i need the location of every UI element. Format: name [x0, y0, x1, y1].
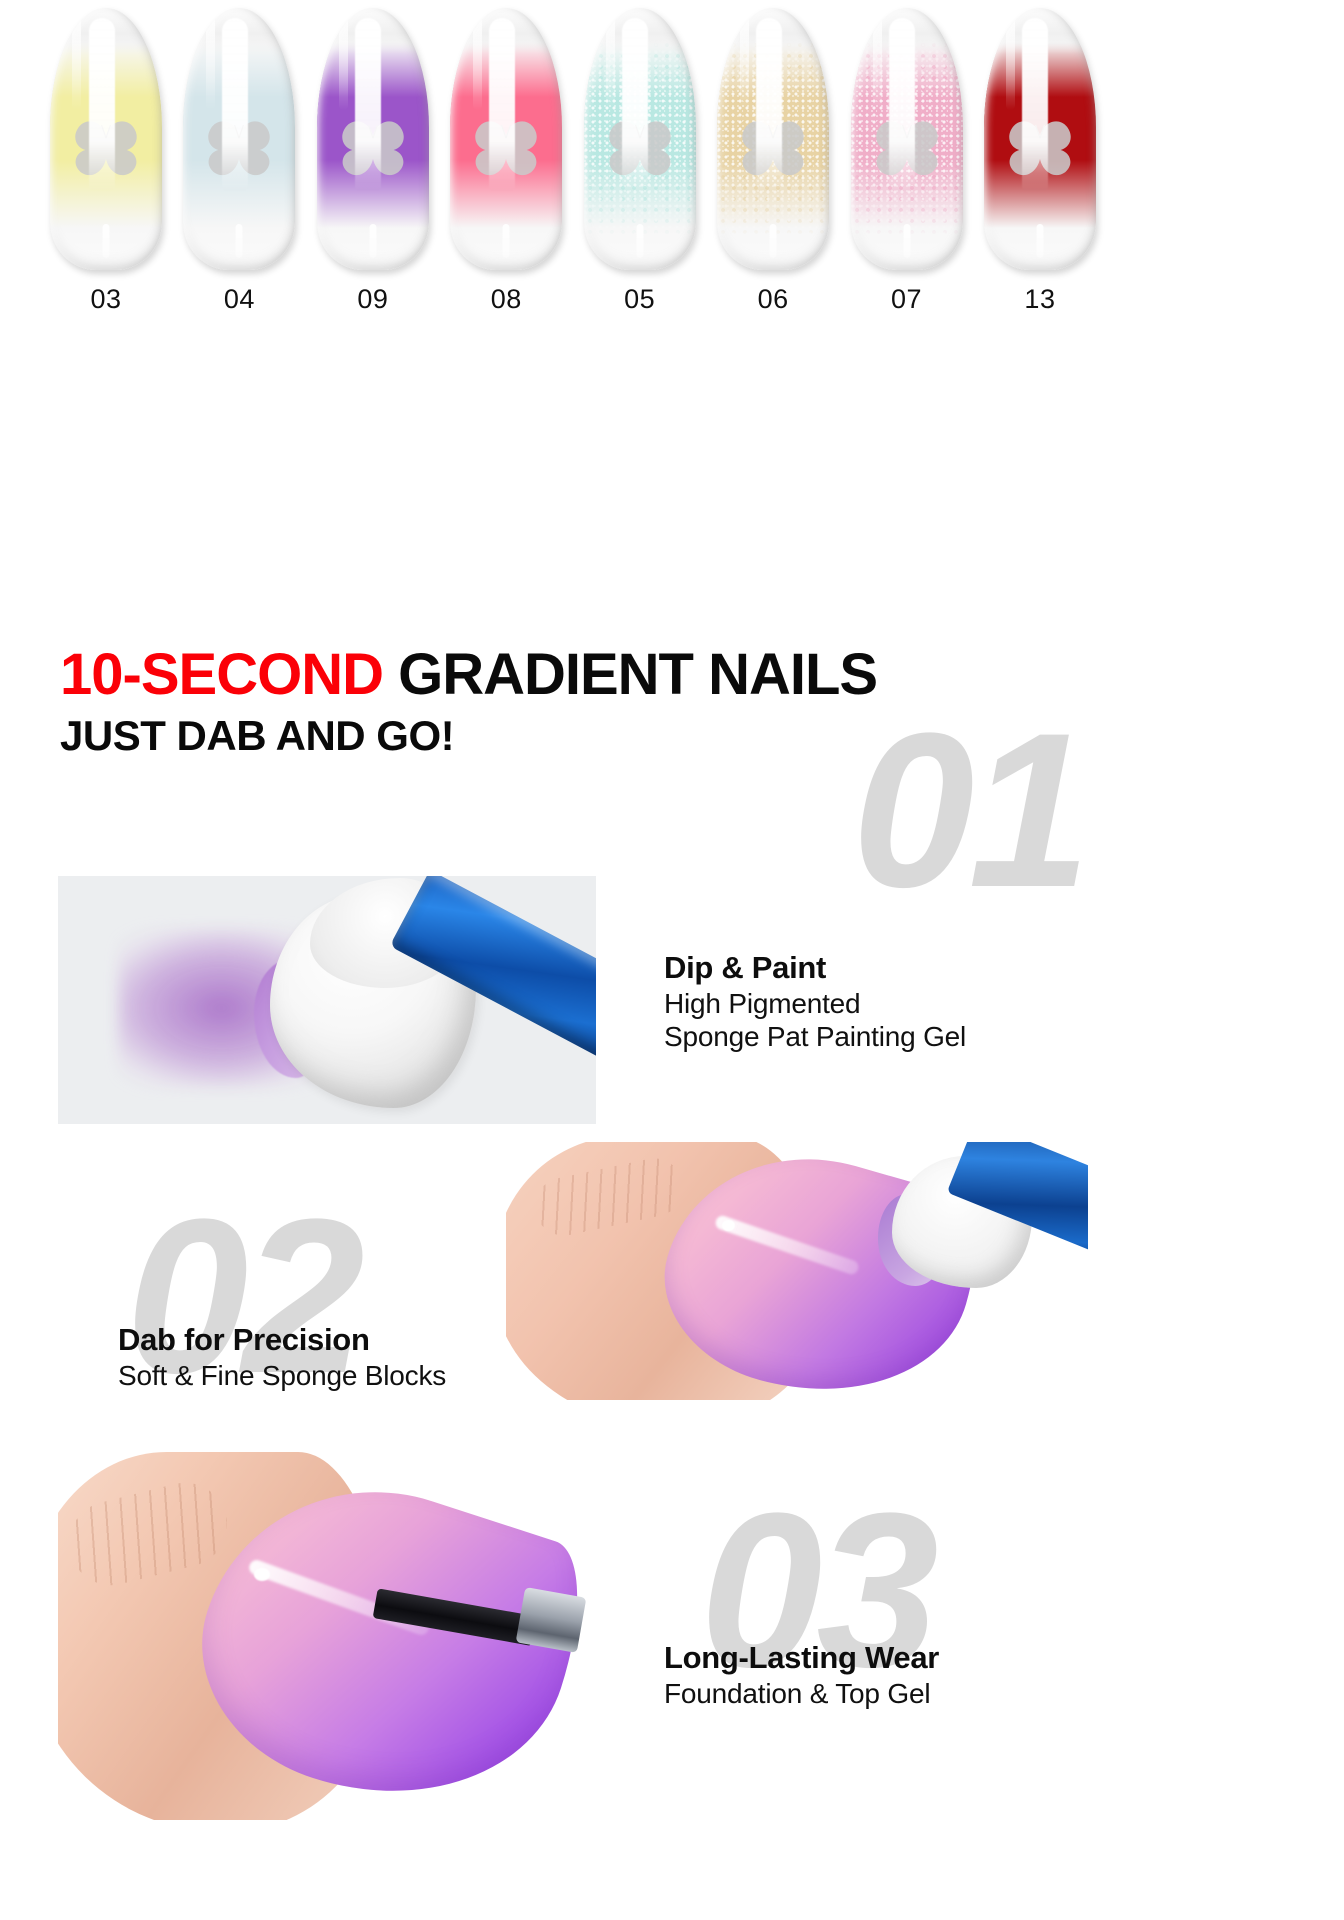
step-1-title: Dip & Paint — [664, 950, 966, 986]
swatch-label: 06 — [715, 284, 831, 315]
step-1-number: 01 — [852, 700, 1085, 920]
nail-tip-mint-glitter — [584, 8, 696, 270]
color-swatch-09[interactable]: 09 — [315, 8, 431, 315]
color-swatch-06[interactable]: 06 — [715, 8, 831, 315]
swatch-label: 03 — [48, 284, 164, 315]
nail-edge-shading — [717, 8, 829, 270]
swatch-label: 08 — [448, 284, 564, 315]
nail-tip-pastel-yellow — [50, 8, 162, 270]
step-3-title: Long-Lasting Wear — [664, 1640, 939, 1676]
step-3-text: Long-Lasting Wear Foundation & Top Gel — [664, 1640, 939, 1711]
step-1-text: Dip & Paint High Pigmented Sponge Pat Pa… — [664, 950, 966, 1054]
nail-edge-shading — [450, 8, 562, 270]
nail-edge-shading — [183, 8, 295, 270]
step-2-title: Dab for Precision — [118, 1322, 446, 1358]
nail-edge-shading — [984, 8, 1096, 270]
step-2-desc-line1: Soft & Fine Sponge Blocks — [118, 1360, 446, 1393]
step-1-photo-sponge-dip — [58, 876, 596, 1124]
step-1-desc-line2: Sponge Pat Painting Gel — [664, 1021, 966, 1054]
nail-edge-shading — [851, 8, 963, 270]
swatch-label: 07 — [849, 284, 965, 315]
nail-tip-deep-red — [984, 8, 1096, 270]
page-headline: 10-SECOND GRADIENT NAILS — [60, 645, 877, 705]
product-detail-page: 0304090805060713 10-SECOND GRADIENT NAIL… — [0, 0, 1344, 1920]
nail-tip-gold-glitter — [717, 8, 829, 270]
page-subheadline: JUST DAB AND GO! — [60, 712, 454, 760]
color-swatch-03[interactable]: 03 — [48, 8, 164, 315]
step-3-photo-top-gel — [58, 1440, 618, 1820]
headline-rest: GRADIENT NAILS — [383, 642, 877, 707]
nail-edge-shading — [50, 8, 162, 270]
nail-highlight-dot — [722, 1220, 735, 1231]
color-swatch-13[interactable]: 13 — [982, 8, 1098, 315]
swatch-label: 13 — [982, 284, 1098, 315]
color-swatch-04[interactable]: 04 — [181, 8, 297, 315]
step-1-desc-line1: High Pigmented — [664, 988, 966, 1021]
nail-tip-violet-purple — [317, 8, 429, 270]
color-swatch-strip: 0304090805060713 — [48, 8, 1098, 328]
nail-edge-shading — [584, 8, 696, 270]
brush-ferrule — [516, 1587, 587, 1653]
step-3-desc-line1: Foundation & Top Gel — [664, 1678, 939, 1711]
nail-tip-pink-glitter — [851, 8, 963, 270]
step-2-photo-dab-nail — [506, 1142, 1088, 1400]
swatch-label: 09 — [315, 284, 431, 315]
color-swatch-08[interactable]: 08 — [448, 8, 564, 315]
color-swatch-05[interactable]: 05 — [582, 8, 698, 315]
step-2-text: Dab for Precision Soft & Fine Sponge Blo… — [118, 1322, 446, 1393]
swatch-label: 05 — [582, 284, 698, 315]
headline-accent: 10-SECOND — [60, 642, 383, 707]
nail-edge-shading — [317, 8, 429, 270]
nail-highlight-dot — [254, 1568, 270, 1581]
swatch-label: 04 — [181, 284, 297, 315]
nail-tip-pastel-blue — [183, 8, 295, 270]
nail-tip-hot-pink — [450, 8, 562, 270]
color-swatch-07[interactable]: 07 — [849, 8, 965, 315]
